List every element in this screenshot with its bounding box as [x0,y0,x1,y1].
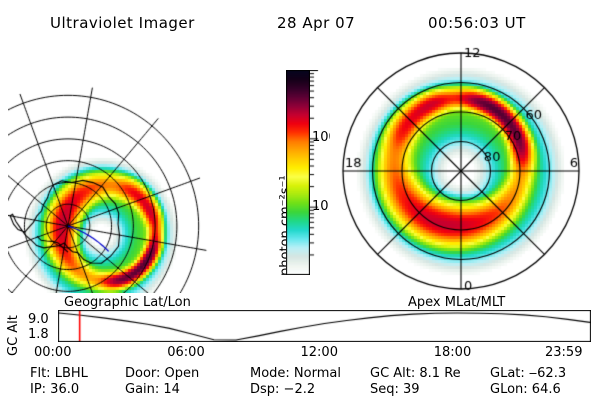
timeline-y-axis-text: GC Alt [6,315,21,356]
colorbar: 100 10 [286,70,310,275]
colorbar-gradient [286,70,310,275]
observation-date: 28 Apr 07 [277,14,355,32]
status-flt: Flt: LBHL [30,366,88,381]
timeline-y-min: 1.8 [28,327,49,342]
status-seq: Seq: 39 [370,382,420,397]
altitude-timeline[interactable] [58,310,591,342]
timeline-label-4: 23:59 [545,345,582,360]
apex-panel [330,38,592,296]
header-bar: Ultraviolet Imager 28 Apr 07 00:56:03 UT [0,8,600,32]
instrument-title: Ultraviolet Imager [50,14,195,32]
status-glat: GLat: ‒62.3 [490,366,566,381]
altitude-timeline-plot[interactable] [58,310,591,342]
status-mode: Mode: Normal [250,366,341,381]
status-door: Door: Open [125,366,199,381]
geographic-panel [8,38,266,293]
status-gain: Gain: 14 [125,382,180,397]
geographic-aurora-image [8,38,266,293]
timeline-label-1: 06:00 [167,345,204,360]
geographic-panel-label: Geographic Lat/Lon [64,295,191,310]
observation-time: 00:56:03 UT [428,14,526,32]
status-ip: IP: 36.0 [30,382,79,397]
timeline-label-2: 12:00 [301,345,338,360]
timeline-y-max: 9.0 [28,312,49,327]
colorbar-ticks [310,70,324,275]
status-gc-alt: GC Alt: 8.1 Re [370,366,461,381]
apex-aurora-image [330,38,592,296]
apex-panel-label: Apex MLat/MLT [408,295,505,310]
colorbar-axis-label: photon cm⁻²s⁻¹ [262,90,282,280]
timeline-label-3: 18:00 [434,345,471,360]
status-glon: GLon: 64.6 [490,382,561,397]
timeline-label-0: 00:00 [34,345,71,360]
status-dsp: Dsp: −2.2 [250,382,315,397]
timeline-y-axis-name: GC Alt [4,310,22,344]
